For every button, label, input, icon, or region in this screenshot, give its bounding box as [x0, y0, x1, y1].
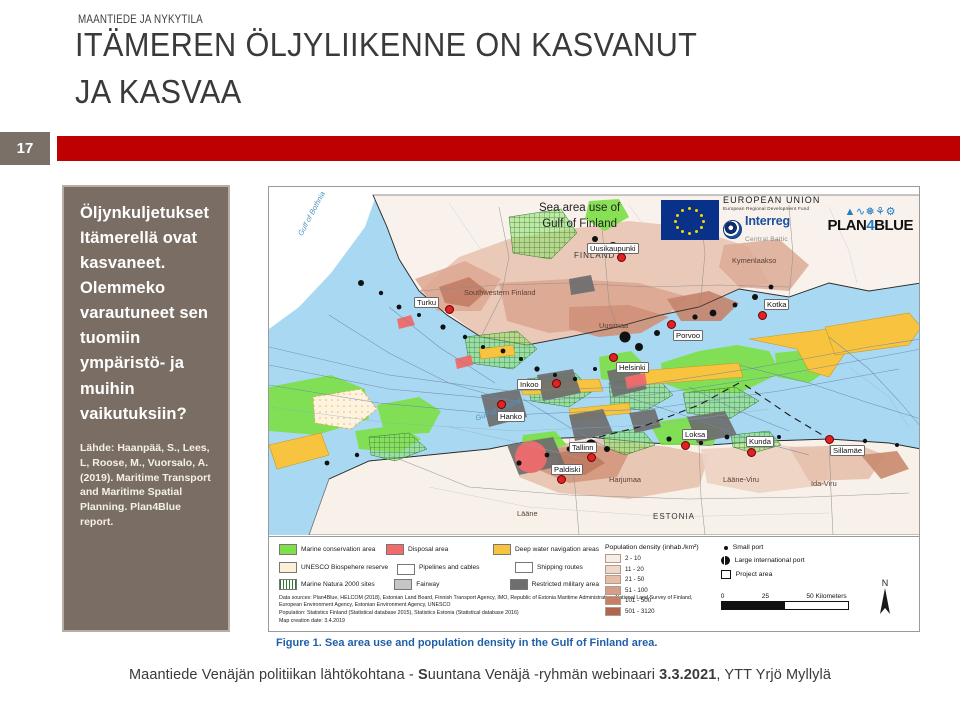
figure-caption: Figure 1. Sea area use and population de…: [276, 637, 657, 649]
map-region-kymenlaakso: Kymenlaakso: [732, 256, 776, 265]
interreg-logo: Interreg Central Baltic: [723, 213, 820, 245]
swatch-pd-3-icon: [605, 575, 621, 584]
port-dot-sillamae: [825, 435, 834, 444]
pd-class-51-100: 51 - 100: [605, 586, 699, 595]
port-dot-kotka: [758, 311, 767, 320]
map-region-uusimaa: Uusimaa: [599, 321, 628, 330]
population-density-title: Population density (inhab./km²): [605, 544, 699, 551]
project-area-bracket-icon: [721, 570, 731, 579]
port-dot-turku: [445, 305, 454, 314]
port-dot-porvoo: [667, 320, 676, 329]
map-title: Sea area use of Gulf of Finland: [539, 201, 620, 232]
swatch-pd-2-icon: [605, 565, 621, 574]
plan4blue-wordmark: PLAN4BLUE: [827, 218, 913, 233]
legend-item-marine-conservation: Marine conservation area: [279, 544, 386, 555]
slide-number-badge: 17: [0, 132, 50, 165]
swatch-pipelines-icon: [397, 564, 415, 575]
legend-item-pipelines: Pipelines and cables: [397, 560, 515, 575]
population-density-legend: Population density (inhab./km²) 2 - 10 1…: [605, 544, 699, 626]
slide-footer: Maantiede Venäjän politiikan lähtökohtan…: [0, 667, 960, 683]
map-port-paldiski[interactable]: Paldiski: [551, 464, 583, 475]
swatch-pd-1-icon: [605, 554, 621, 563]
quote-panel: Öljynkuljetukset Itämerellä ovat kasvane…: [62, 185, 230, 632]
eu-union-label: EUROPEAN UNION: [723, 195, 820, 205]
port-dot-helsinki: [609, 353, 618, 362]
map-port-tallinn[interactable]: Tallinn: [569, 442, 597, 453]
interreg-swirl-icon: [723, 220, 742, 239]
eu-logo-text: EUROPEAN UNION European Regional Develop…: [723, 195, 820, 245]
port-dot-inkoo: [552, 379, 561, 388]
port-dot-kunda: [747, 448, 756, 457]
legend-item-deep-water: Deep water navigation areas: [493, 544, 599, 555]
interreg-name: Interreg: [745, 214, 790, 228]
footer-part-1: Maantiede Venäjän politiikan lähtökohtan…: [129, 667, 418, 683]
port-dot-uusikaupunki: [617, 253, 626, 262]
scalebar-min: 0: [721, 593, 725, 600]
swatch-unesco-icon: [279, 562, 297, 573]
map-region-laane-viru: Lääne-Viru: [723, 475, 759, 484]
swatch-natura2000-icon: [279, 579, 297, 590]
eu-flag-icon: [661, 200, 719, 240]
quote-text: Öljynkuljetukset Itämerellä ovat kasvane…: [80, 201, 216, 427]
swatch-disposal-area-icon: [386, 544, 404, 555]
map-region-southwestern-finland: Southwestern Finland: [464, 288, 536, 297]
slide-number: 17: [17, 140, 34, 157]
swatch-marine-conservation-icon: [279, 544, 297, 555]
map-port-uusikaupunki[interactable]: Uusikaupunki: [587, 243, 639, 254]
small-port-dot-icon: [724, 546, 728, 550]
port-dot-paldiski: [557, 475, 566, 484]
map-region-harjumaa: Harjumaa: [609, 475, 641, 484]
scalebar-max: 50 Kilometers: [806, 593, 846, 600]
map-port-hanko[interactable]: Hanko: [497, 411, 525, 422]
footer-part-2: S: [418, 667, 428, 683]
pd-class-101-500: 101 - 500: [605, 596, 699, 605]
port-dot-tallinn: [587, 453, 596, 462]
map-legend: Marine conservation area Disposal area D…: [269, 536, 919, 632]
north-arrow-icon: N: [879, 579, 891, 619]
swatch-shipping-routes-icon: [515, 562, 533, 573]
legend-item-fairway: Fairway: [394, 579, 509, 590]
scalebar-mid: 25: [762, 593, 769, 600]
map-port-kotka[interactable]: Kotka: [764, 299, 789, 310]
plan4blue-logo: ▲∿❅⚘⚙ PLAN4BLUE: [827, 207, 913, 233]
legend-item-disposal-area: Disposal area: [386, 544, 493, 555]
swatch-fairway-icon: [394, 579, 412, 590]
legend-item-small-port: Small port: [721, 544, 849, 551]
legend-item-large-port: Large international port: [721, 556, 849, 565]
map-port-turku[interactable]: Turku: [414, 297, 439, 308]
eu-fund-label: European Regional Development Fund: [723, 206, 820, 211]
map-port-porvoo[interactable]: Porvoo: [673, 330, 703, 341]
footer-part-5: , YTT Yrjö Myllylä: [716, 667, 831, 683]
quote-source: Lähde: Haanpää, S., Lees, L, Roose, M., …: [80, 441, 216, 530]
pd-class-11-20: 11 - 20: [605, 565, 699, 574]
legend-symbols: Marine conservation area Disposal area D…: [279, 544, 599, 626]
map-port-kunda[interactable]: Kunda: [746, 436, 774, 447]
pd-class-21-50: 21 - 50: [605, 575, 699, 584]
swatch-restricted-military-icon: [510, 579, 528, 590]
page-title: ITÄMEREN ÖLJYLIIKENNE ON KASVANUT JA KAS…: [75, 22, 875, 116]
north-label: N: [879, 579, 891, 588]
map-port-inkoo[interactable]: Inkoo: [517, 379, 542, 390]
header-red-rule: [57, 136, 960, 161]
legend-item-project-area: Project area: [721, 570, 849, 579]
legend-right: Population density (inhab./km²) 2 - 10 1…: [599, 544, 849, 626]
map-port-helsinki[interactable]: Helsinki: [616, 362, 649, 373]
map-port-sillamae[interactable]: Sillamäe: [830, 445, 865, 456]
map-country-estonia: ESTONIA: [653, 512, 695, 521]
map-region-laane: Lääne: [517, 509, 538, 518]
pd-class-2-10: 2 - 10: [605, 554, 699, 563]
pd-class-501-3120: 501 - 3120: [605, 607, 699, 616]
legend-item-shipping-routes: Shipping routes: [515, 562, 583, 573]
swatch-deep-water-icon: [493, 544, 511, 555]
legend-item-natura2000: Marine Natura 2000 sites: [279, 579, 394, 590]
footer-part-3: uuntana Venäjä -ryhmän webinaari: [428, 667, 659, 683]
port-dot-loksa: [681, 441, 690, 450]
swatch-pd-4-icon: [605, 586, 621, 595]
swatch-pd-5-icon: [605, 596, 621, 605]
map-region-ida-viru: Ida-Viru: [811, 479, 837, 488]
map-figure: Sea area use of Gulf of Finland EUROPEAN…: [268, 186, 920, 632]
ports-legend: Small port Large international port Proj…: [721, 544, 849, 626]
legend-item-unesco: UNESCO Biospehere reserve: [279, 562, 397, 573]
footer-part-4: 3.3.2021: [659, 667, 716, 683]
logo-row: EUROPEAN UNION European Regional Develop…: [661, 195, 913, 245]
legend-item-restricted-military: Restricted military area: [510, 579, 599, 590]
large-port-dot-icon: [721, 556, 730, 565]
scalebar-bar: [721, 601, 849, 610]
port-dot-hanko: [497, 400, 506, 409]
map-port-loksa[interactable]: Loksa: [682, 429, 708, 440]
swatch-pd-6-icon: [605, 607, 621, 616]
interreg-sub: Central Baltic: [745, 236, 788, 243]
map-scalebar: 0 25 50 Kilometers: [721, 593, 849, 610]
